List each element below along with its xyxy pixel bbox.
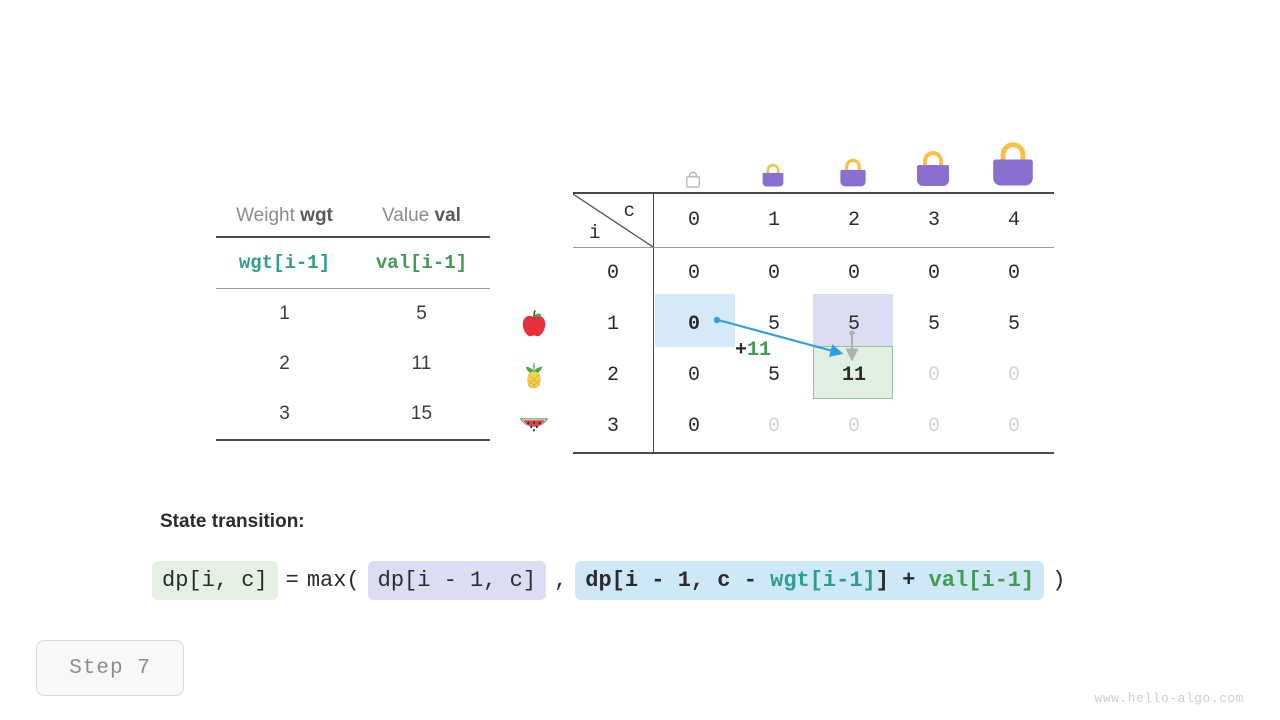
dp-corner-cell: c i bbox=[573, 194, 654, 247]
dp-col-axis-label: c bbox=[624, 200, 635, 222]
formula-option-skip: dp[i - 1, c] bbox=[368, 561, 546, 600]
pineapple-icon-svg bbox=[519, 360, 549, 390]
plus-sign: + bbox=[735, 339, 747, 362]
step-badge: Step 7 bbox=[36, 640, 184, 696]
dp-cell-1-4: 5 bbox=[974, 299, 1054, 350]
item-weight: 2 bbox=[216, 353, 353, 375]
bag-icon-capacity-2 bbox=[813, 158, 893, 188]
table-row: 2 0 5 11 0 0 bbox=[573, 350, 1054, 401]
dp-table-header-row: c i 0 1 2 3 4 bbox=[573, 192, 1054, 247]
table-row: 1 0 5 5 5 5 bbox=[573, 299, 1054, 350]
state-transition-formula: dp[i, c] = max( dp[i - 1, c] , dp[i - 1,… bbox=[152, 561, 1073, 600]
dp-cell-2-2: 11 bbox=[814, 350, 894, 401]
bag-icon-svg bbox=[913, 150, 953, 188]
formula-take-val: val[i-1] bbox=[929, 568, 1035, 593]
formula-lhs: dp[i, c] bbox=[152, 561, 278, 600]
apple-icon bbox=[512, 300, 556, 350]
formula-take-part1: dp[i - 1, c - bbox=[585, 568, 770, 593]
bag-icon-svg bbox=[988, 141, 1038, 188]
dp-cell-0-0: 0 bbox=[654, 248, 734, 299]
table-row: 2 11 bbox=[216, 339, 490, 389]
dp-cell-0-2: 0 bbox=[814, 248, 894, 299]
bag-icon-capacity-1 bbox=[733, 163, 813, 188]
dp-cell-3-3: 0 bbox=[894, 401, 974, 452]
dp-cell-3-1: 0 bbox=[734, 401, 814, 452]
dp-table: c i 0 1 2 3 4 0 0 0 0 0 0 1 0 5 5 5 5 2 … bbox=[573, 192, 1054, 454]
item-weight: 3 bbox=[216, 403, 353, 425]
dp-row-axis-label: i bbox=[589, 222, 600, 244]
items-table-header-row: Weight wgt Value val bbox=[216, 196, 490, 236]
bag-icon-capacity-0 bbox=[653, 171, 733, 188]
value-gain-label: +11 bbox=[735, 338, 771, 362]
dp-cell-2-3: 0 bbox=[894, 350, 974, 401]
formula-comma: , bbox=[546, 568, 575, 593]
items-subheader-wgt: wgt[i-1] bbox=[216, 252, 353, 274]
bag-icon-svg bbox=[837, 158, 869, 188]
formula-option-take: dp[i - 1, c - wgt[i-1]] + val[i-1] bbox=[575, 561, 1044, 600]
dp-row-header: 3 bbox=[573, 401, 654, 452]
items-header-weight: Weight wgt bbox=[216, 205, 353, 227]
pineapple-icon bbox=[512, 350, 556, 400]
items-table-subheader-row: wgt[i-1] val[i-1] bbox=[216, 238, 490, 288]
gain-amount: 11 bbox=[747, 339, 771, 362]
watermelon-icon bbox=[512, 400, 556, 450]
dp-cell-3-2: 0 bbox=[814, 401, 894, 452]
formula-take-wgt: wgt[i-1] bbox=[770, 568, 876, 593]
watermelon-icon-svg bbox=[518, 410, 550, 440]
dp-cell-0-4: 0 bbox=[974, 248, 1054, 299]
dp-col-header: 1 bbox=[734, 194, 814, 247]
state-transition-title: State transition: bbox=[160, 511, 305, 533]
formula-equals: = bbox=[278, 568, 307, 593]
dp-cell-1-3: 5 bbox=[894, 299, 974, 350]
items-table: Weight wgt Value val wgt[i-1] val[i-1] 1… bbox=[216, 196, 490, 441]
table-row: 3 0 0 0 0 0 bbox=[573, 401, 1054, 452]
item-value: 15 bbox=[353, 403, 490, 425]
dp-cell-3-0: 0 bbox=[654, 401, 734, 452]
dp-row-header: 0 bbox=[573, 248, 654, 299]
watermark: www.hello-algo.com bbox=[1095, 691, 1244, 706]
table-row: 3 15 bbox=[216, 389, 490, 439]
item-value: 11 bbox=[353, 353, 490, 375]
dp-row-header: 1 bbox=[573, 299, 654, 350]
bag-icons-row bbox=[653, 118, 1053, 188]
items-table-divider-bottom bbox=[216, 439, 490, 441]
dp-table-body: 0 0 0 0 0 0 1 0 5 5 5 5 2 0 5 11 0 0 3 0… bbox=[573, 247, 1054, 454]
apple-icon-svg bbox=[519, 310, 549, 340]
diagonal-divider-icon bbox=[573, 194, 653, 247]
table-row: 0 0 0 0 0 0 bbox=[573, 248, 1054, 299]
formula-take-part2: ] + bbox=[876, 568, 929, 593]
dp-col-header: 2 bbox=[814, 194, 894, 247]
item-weight: 1 bbox=[216, 303, 353, 325]
bag-icon-capacity-4 bbox=[973, 141, 1053, 188]
item-value: 5 bbox=[353, 303, 490, 325]
items-subheader-val: val[i-1] bbox=[353, 252, 490, 274]
dp-cell-2-4: 0 bbox=[974, 350, 1054, 401]
formula-max-open: max( bbox=[307, 568, 360, 593]
dp-cell-1-0: 0 bbox=[654, 299, 734, 350]
items-header-value: Value val bbox=[353, 205, 490, 227]
fruit-icon-column bbox=[512, 300, 556, 450]
formula-close-paren: ) bbox=[1044, 568, 1073, 593]
dp-row-header: 2 bbox=[573, 350, 654, 401]
dp-cell-0-1: 0 bbox=[734, 248, 814, 299]
bag-icon-small-empty bbox=[684, 171, 702, 188]
bag-icon-capacity-3 bbox=[893, 150, 973, 188]
dp-cell-1-2: 5 bbox=[814, 299, 894, 350]
dp-cell-2-0: 0 bbox=[654, 350, 734, 401]
dp-col-header: 4 bbox=[974, 194, 1054, 247]
dp-cell-3-4: 0 bbox=[974, 401, 1054, 452]
dp-cell-0-3: 0 bbox=[894, 248, 974, 299]
dp-col-header: 0 bbox=[654, 194, 734, 247]
dp-col-header: 3 bbox=[894, 194, 974, 247]
bag-icon-svg bbox=[760, 163, 786, 188]
table-row: 1 5 bbox=[216, 289, 490, 339]
